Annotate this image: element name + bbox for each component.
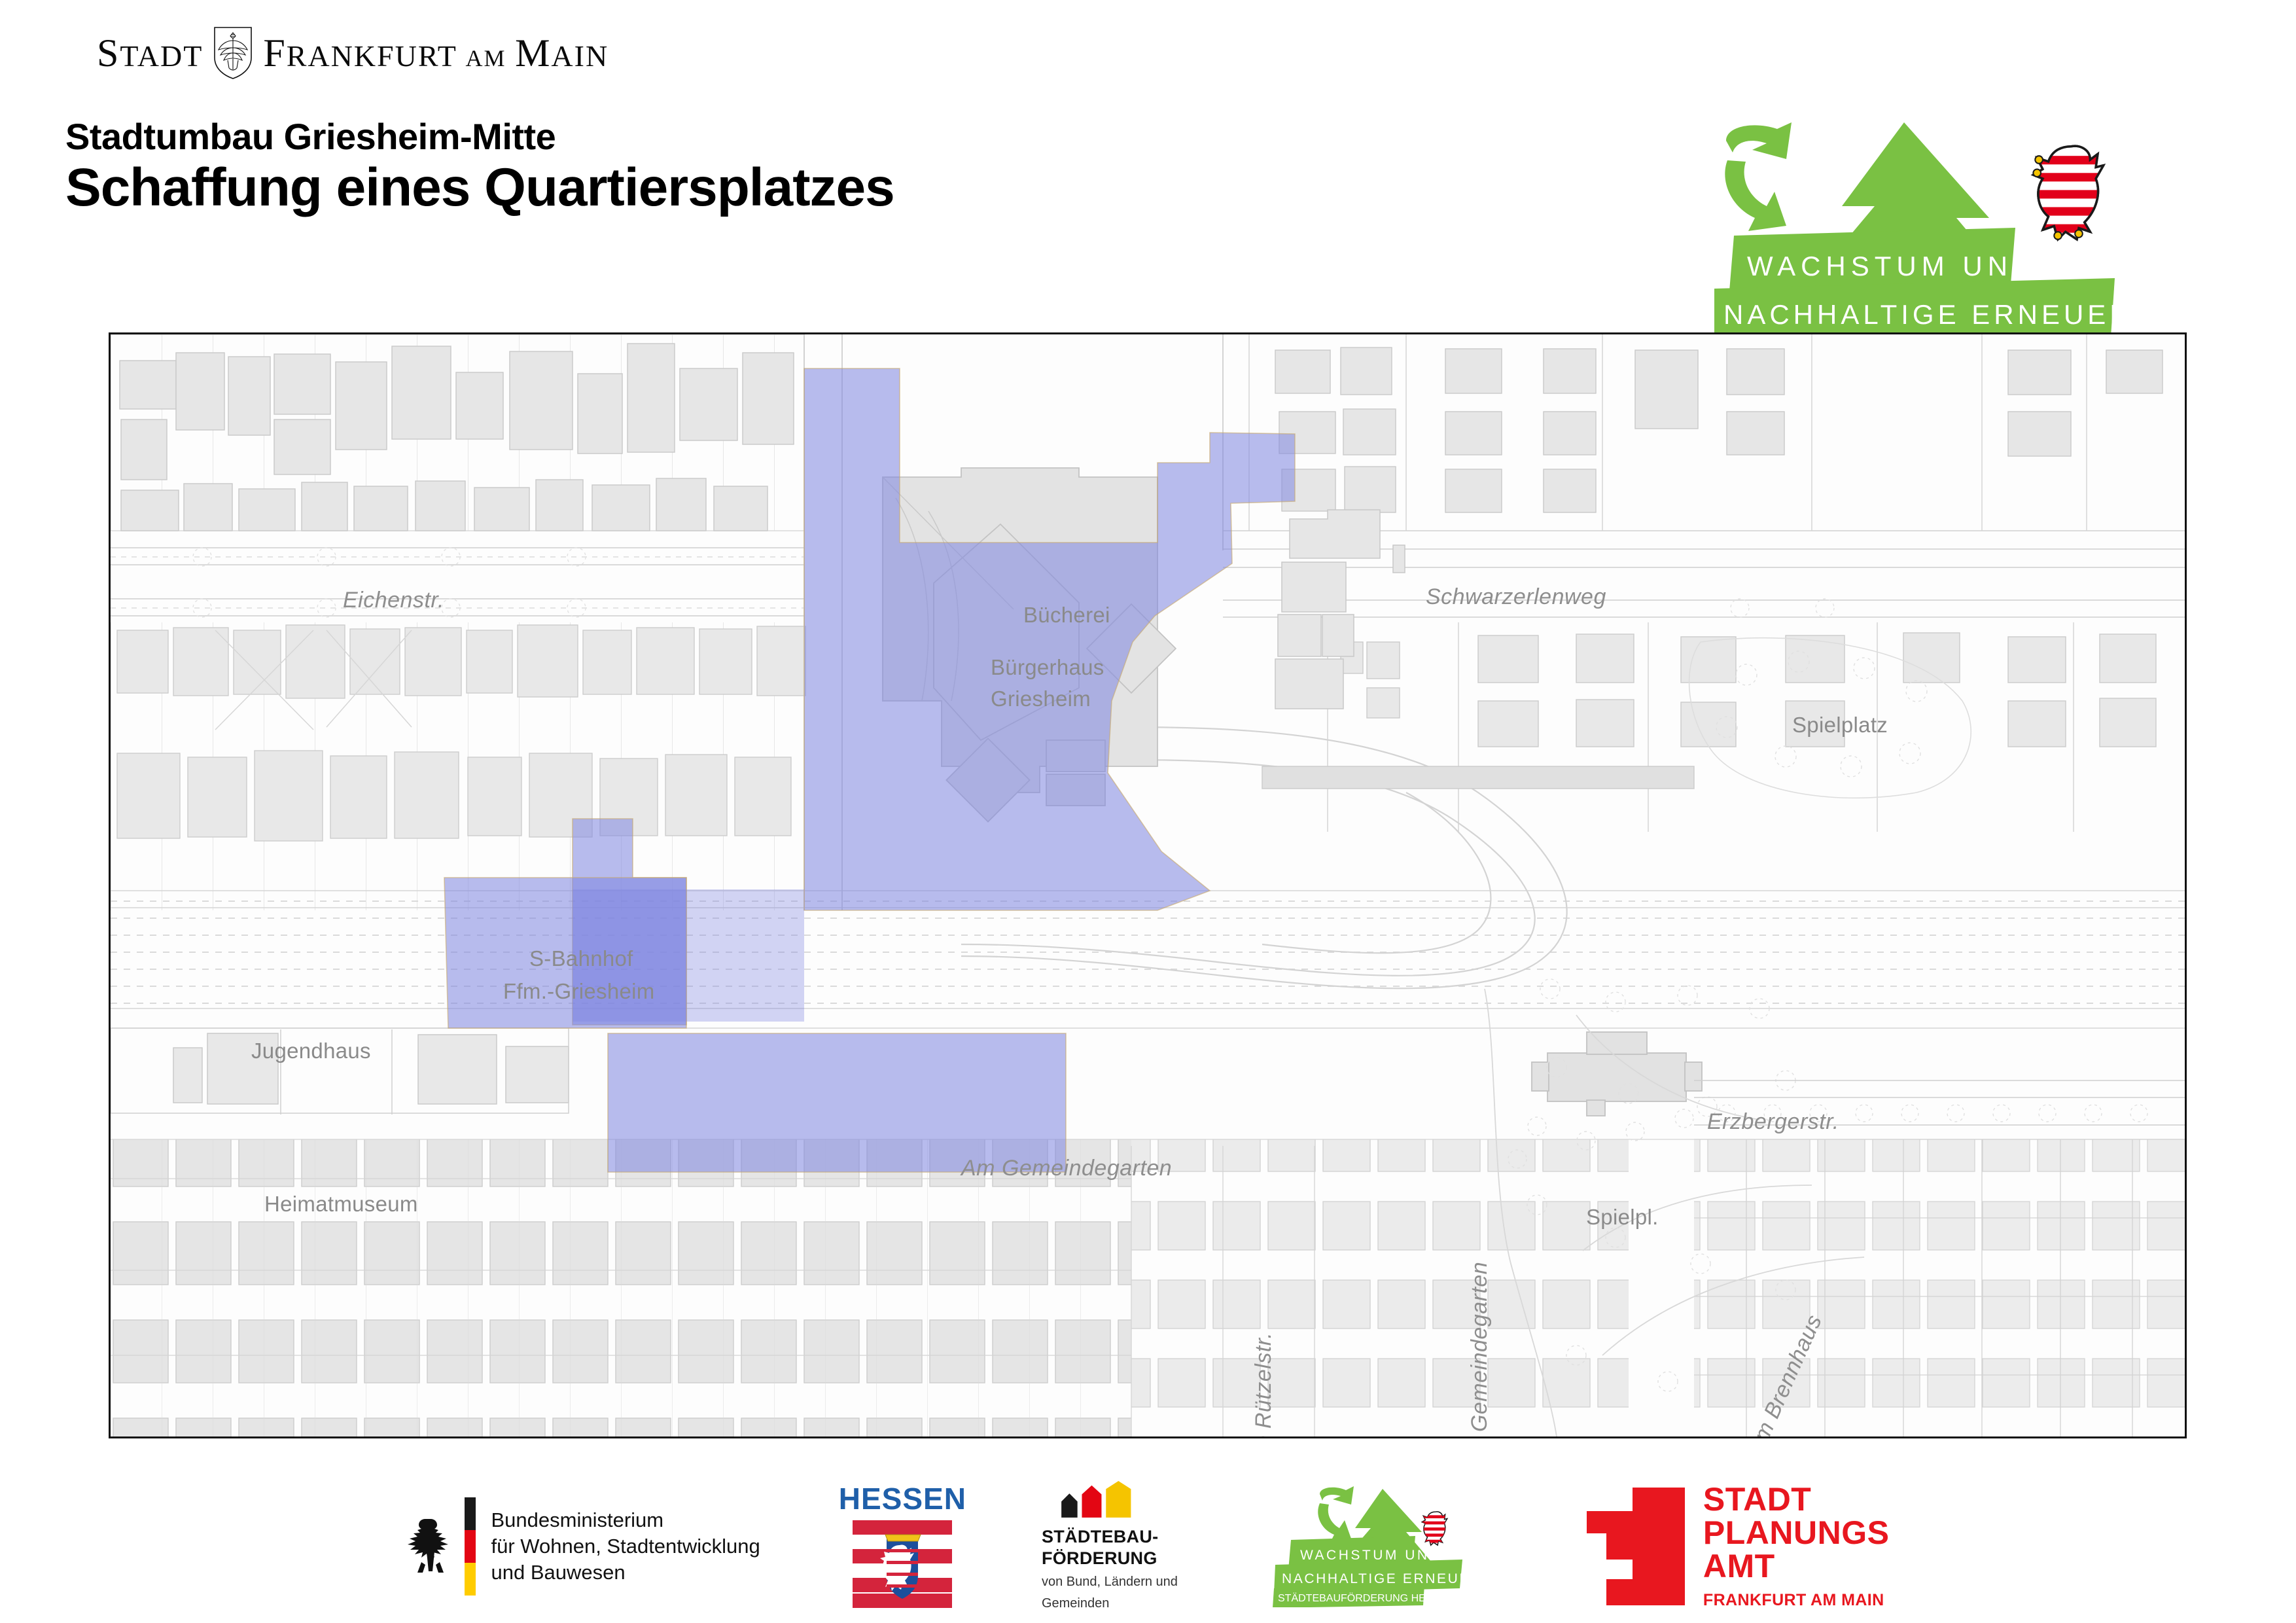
logo-bundesministerium: Bundesministerium für Wohnen, Stadtentwi… [407,1481,760,1612]
project-area-highlight [111,334,2185,1436]
spa-line-3: AMT [1703,1550,1890,1583]
wachstum-small-line-1: WACHSTUM UND [1300,1548,1441,1563]
logo-wachstum-erneuerung-small: WACHSTUM UND NACHHALTIGE ERNEUERUNG STÄD… [1246,1486,1508,1607]
logo-staedtebaufoerderung: STÄDTEBAU- FÖRDERUNG von Bund, Ländern u… [1042,1481,1178,1612]
frankfurt-eagle-crest-icon [212,26,254,80]
hessen-lion-small-icon [1421,1511,1449,1544]
ribbon-line-1: WACHSTUM UND [1747,251,2038,281]
logo-hessen: HESSEN [839,1481,966,1612]
stbf-line-2: FÖRDERUNG [1042,1548,1157,1569]
page-title: Schaffung eines Quartiersplatzes [65,157,894,219]
poster-page: STADT FRANKFURT AM MAIN Stadtumbau Gries… [0,0,2296,1623]
spa-text: STADT PLANUNGS AMT FRANKFURT AM MAIN [1703,1483,1890,1610]
logo-stadtplanungsamt: STADT PLANUNGS AMT FRANKFURT AM MAIN [1587,1481,1890,1612]
bmwsb-text: Bundesministerium für Wohnen, Stadtentwi… [491,1507,760,1585]
page-subtitle: Stadtumbau Griesheim-Mitte [65,115,556,158]
ribbon-line-2: NACHHALTIGE ERNEUERUNG [1723,299,2172,330]
bundesadler-icon [407,1516,454,1577]
bmwsb-line-2: für Wohnen, Stadtentwicklung [491,1533,760,1560]
funding-logo-bar: Bundesministerium für Wohnen, Stadtentwi… [0,1470,2296,1623]
three-houses-icon [1042,1481,1154,1518]
hessen-flag-crest-icon [853,1520,952,1608]
stbf-sub-1: von Bund, Ländern und [1042,1574,1178,1590]
recycle-arrow-icon [1725,122,1792,231]
germany-flag-bar-icon [465,1497,476,1596]
spa-line-1: STADT [1703,1483,1890,1516]
spa-block-mark-icon [1587,1488,1685,1605]
spa-line-2: PLANUNGS [1703,1516,1890,1550]
wachstum-small-line-3: STÄDTEBAUFÖRDERUNG HESSEN [1278,1592,1454,1604]
stbf-sub-2: Gemeinden [1042,1596,1109,1612]
city-logo: STADT FRANKFURT AM MAIN [97,31,609,75]
cadastral-map[interactable]: Eichenstr. Schwarzerlenweg Erzbergerstr.… [109,332,2187,1438]
hessen-wordmark: HESSEN [839,1481,966,1516]
hessen-lion-icon [2032,146,2108,240]
bmwsb-line-3: und Bauwesen [491,1560,760,1586]
map-canvas: Eichenstr. Schwarzerlenweg Erzbergerstr.… [111,334,2185,1436]
wachstum-small-line-2: NACHHALTIGE ERNEUERUNG [1282,1571,1508,1586]
recycle-arrow-small-icon [1318,1486,1354,1543]
stbf-line-1: STÄDTEBAU- [1042,1526,1159,1547]
city-logo-text-right: FRANKFURT AM MAIN [263,33,609,73]
wachstum-small-svg: WACHSTUM UND NACHHALTIGE ERNEUERUNG STÄD… [1246,1486,1508,1607]
bmwsb-line-1: Bundesministerium [491,1507,760,1533]
city-logo-text-left: STADT [97,33,203,73]
spa-subline: FRANKFURT AM MAIN [1703,1591,1890,1610]
